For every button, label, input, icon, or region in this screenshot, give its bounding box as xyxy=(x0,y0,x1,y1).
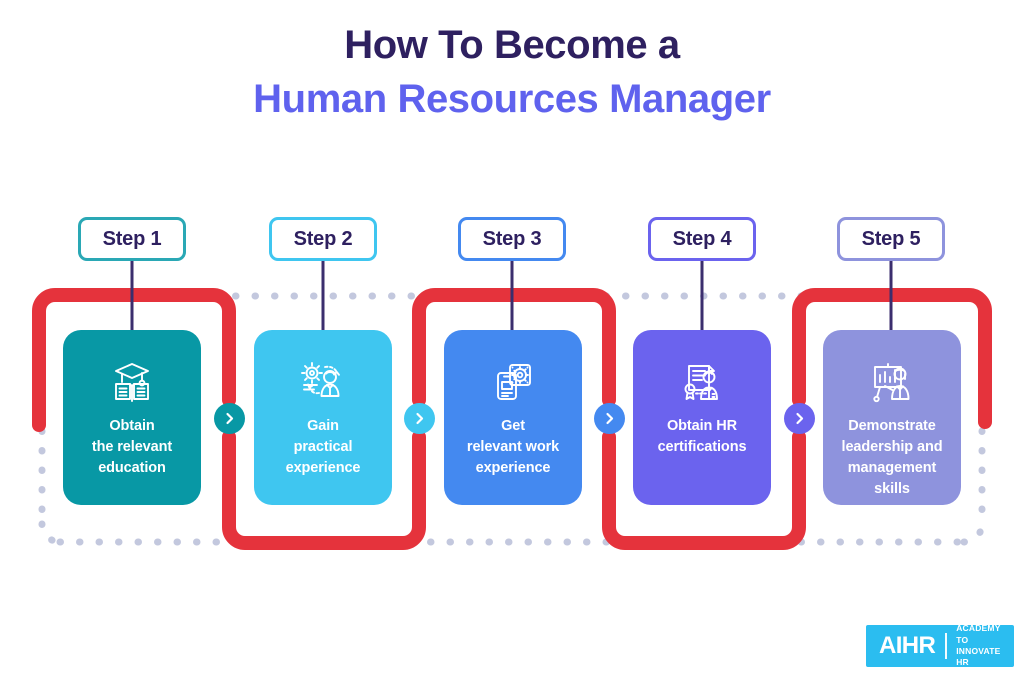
step-arrow-4[interactable] xyxy=(784,403,815,434)
step-badge-1-label: Step 1 xyxy=(103,228,162,251)
device-gear-icon xyxy=(487,356,539,408)
chevron-right-icon xyxy=(222,411,237,426)
logo-divider xyxy=(945,633,947,659)
step-card-1-label: Obtain the relevant education xyxy=(86,416,178,479)
step-badge-5[interactable]: Step 5 xyxy=(837,217,945,261)
logo-tagline: ACADEMY TO INNOVATE HR xyxy=(956,623,1014,669)
step-card-5[interactable]: Demonstrate leadership and management sk… xyxy=(823,330,961,505)
step-badge-4-label: Step 4 xyxy=(673,228,732,251)
step-card-3-label: Get relevant work experience xyxy=(461,416,565,479)
presenter-chart-icon xyxy=(866,356,918,408)
step-badge-1[interactable]: Step 1 xyxy=(78,217,186,261)
graduation-cap-book-icon xyxy=(106,356,158,408)
certificate-person-icon xyxy=(676,356,728,408)
infographic-canvas: How To Become a Human Resources Manager xyxy=(0,0,1024,680)
chevron-right-icon xyxy=(792,411,807,426)
step-card-4[interactable]: Obtain HR certifications xyxy=(633,330,771,505)
step-card-2-label: Gain practical experience xyxy=(280,416,367,479)
step-badge-2[interactable]: Step 2 xyxy=(269,217,377,261)
chevron-right-icon xyxy=(412,411,427,426)
step-arrow-1[interactable] xyxy=(214,403,245,434)
step-card-1[interactable]: Obtain the relevant education xyxy=(63,330,201,505)
step-badge-4[interactable]: Step 4 xyxy=(648,217,756,261)
logo-wordmark: AIHR xyxy=(879,634,935,658)
step-badge-3[interactable]: Step 3 xyxy=(458,217,566,261)
chevron-right-icon xyxy=(602,411,617,426)
step-arrow-3[interactable] xyxy=(594,403,625,434)
step-badge-2-label: Step 2 xyxy=(294,228,353,251)
aihr-logo[interactable]: AIHR ACADEMY TO INNOVATE HR xyxy=(866,625,1014,667)
badge-stems xyxy=(132,261,891,330)
gear-person-cycle-icon xyxy=(297,356,349,408)
step-arrow-2[interactable] xyxy=(404,403,435,434)
step-card-3[interactable]: Get relevant work experience xyxy=(444,330,582,505)
step-badge-3-label: Step 3 xyxy=(483,228,542,251)
step-card-2[interactable]: Gain practical experience xyxy=(254,330,392,505)
step-badge-5-label: Step 5 xyxy=(862,228,921,251)
step-card-4-label: Obtain HR certifications xyxy=(652,416,753,458)
step-card-5-label: Demonstrate leadership and management sk… xyxy=(836,416,949,500)
